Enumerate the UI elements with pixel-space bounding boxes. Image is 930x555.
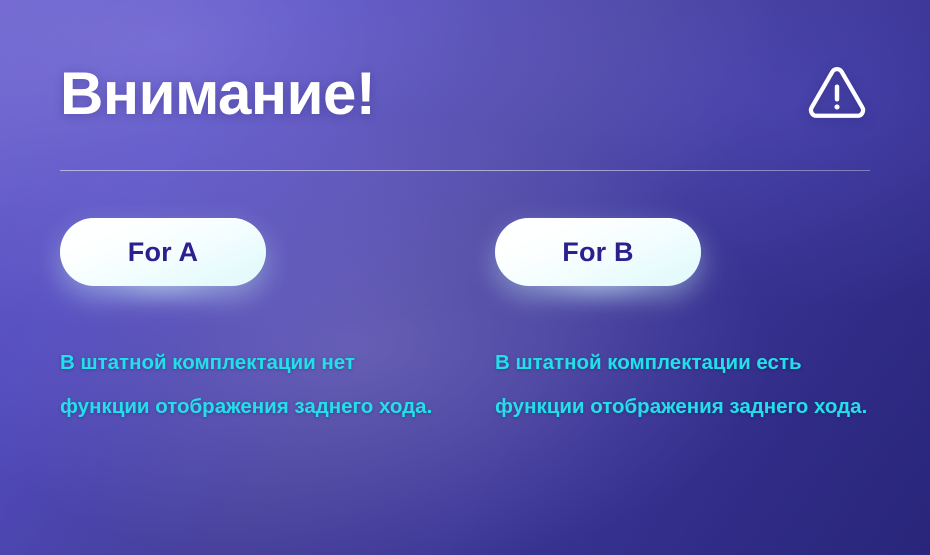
warning-slide: Внимание! For A В штатной комплектации н… — [0, 0, 930, 555]
column-a: For A В штатной комплектации нет функции… — [60, 218, 460, 429]
slide-header: Внимание! — [60, 52, 870, 136]
column-a-description: В штатной комплектации нет функции отобр… — [60, 341, 440, 429]
pill-wrap-a: For A — [60, 218, 266, 286]
column-b: For B В штатной комплектации есть функци… — [495, 218, 895, 429]
for-b-button[interactable]: For B — [495, 218, 701, 286]
page-title: Внимание! — [60, 64, 375, 124]
for-b-button-label: For B — [562, 239, 634, 266]
for-a-button-label: For A — [128, 239, 199, 266]
pill-wrap-b: For B — [495, 218, 701, 286]
header-divider — [60, 170, 870, 171]
warning-triangle-icon — [806, 63, 868, 125]
column-b-description: В штатной комплектации есть функции отоб… — [495, 341, 880, 429]
for-a-button[interactable]: For A — [60, 218, 266, 286]
